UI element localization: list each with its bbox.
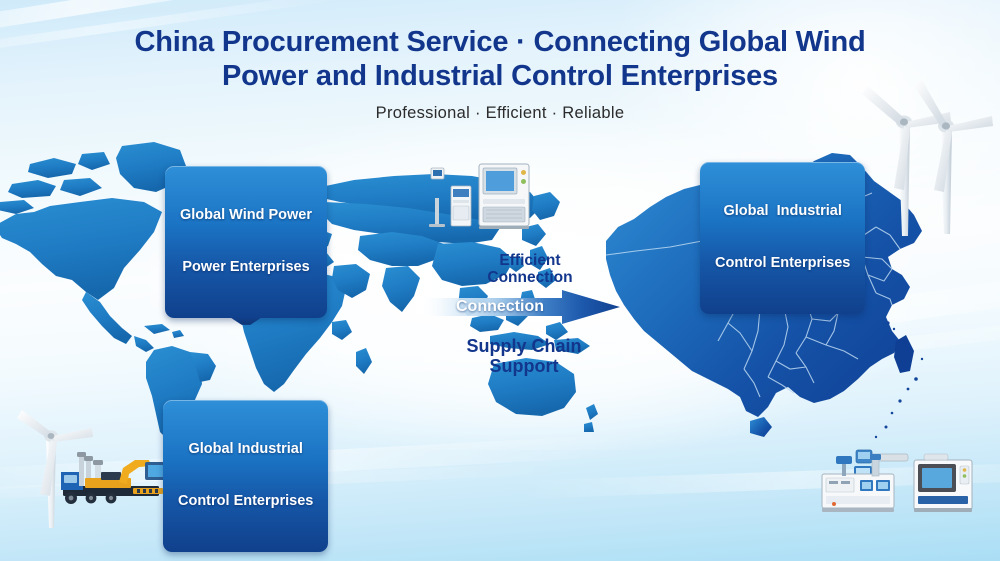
badge-china-line-1: Global Industrial	[715, 203, 850, 220]
badge-global-wind-power[interactable]: Global Wind Power Power Enterprises	[165, 166, 327, 318]
page-title-line-2: Power and Industrial Control Enterprises	[0, 60, 1000, 94]
drilling-rig-vehicle-icon	[55, 450, 180, 510]
page-subtitle: Professional · Efficient · Reliable	[0, 104, 1000, 123]
arrow-bottom-caption: Supply Chain Support	[428, 336, 620, 377]
arrow-top-line-2: Connection	[440, 269, 620, 286]
badge-global-industrial-control[interactable]: Global Industrial Control Enterprises	[163, 400, 328, 552]
infographic-canvas: China Procurement Service · Connecting G…	[0, 0, 1000, 561]
arrow-bottom-line-1: Supply Chain	[428, 336, 620, 357]
connection-flow-group: Efficient Connection Connection	[420, 252, 620, 377]
header: China Procurement Service · Connecting G…	[0, 26, 1000, 123]
industrial-control-equipment-icon	[425, 152, 540, 230]
arrow-inner-label: Connection	[420, 290, 580, 324]
badge-china-line-2: Control Enterprises	[715, 255, 850, 272]
page-title: China Procurement Service · Connecting G…	[0, 26, 1000, 94]
arrow-bottom-line-2: Support	[428, 356, 620, 377]
badge-industrial-line-2: Control Enterprises	[178, 493, 313, 510]
arrow-top-caption: Efficient Connection	[440, 252, 620, 287]
industrial-control-equipment-icon	[818, 440, 994, 516]
arrow-top-line-1: Efficient	[440, 252, 620, 269]
badge-wind-line-1: Global Wind Power	[180, 207, 312, 224]
badge-industrial-line-1: Global Industrial	[178, 441, 313, 458]
badge-wind-line-2: Power Enterprises	[180, 259, 312, 276]
badge-china-industrial-control[interactable]: Global Industrial Control Enterprises	[700, 162, 865, 314]
right-arrow-icon: Connection	[420, 290, 620, 324]
page-title-line-1: China Procurement Service · Connecting G…	[135, 26, 866, 58]
